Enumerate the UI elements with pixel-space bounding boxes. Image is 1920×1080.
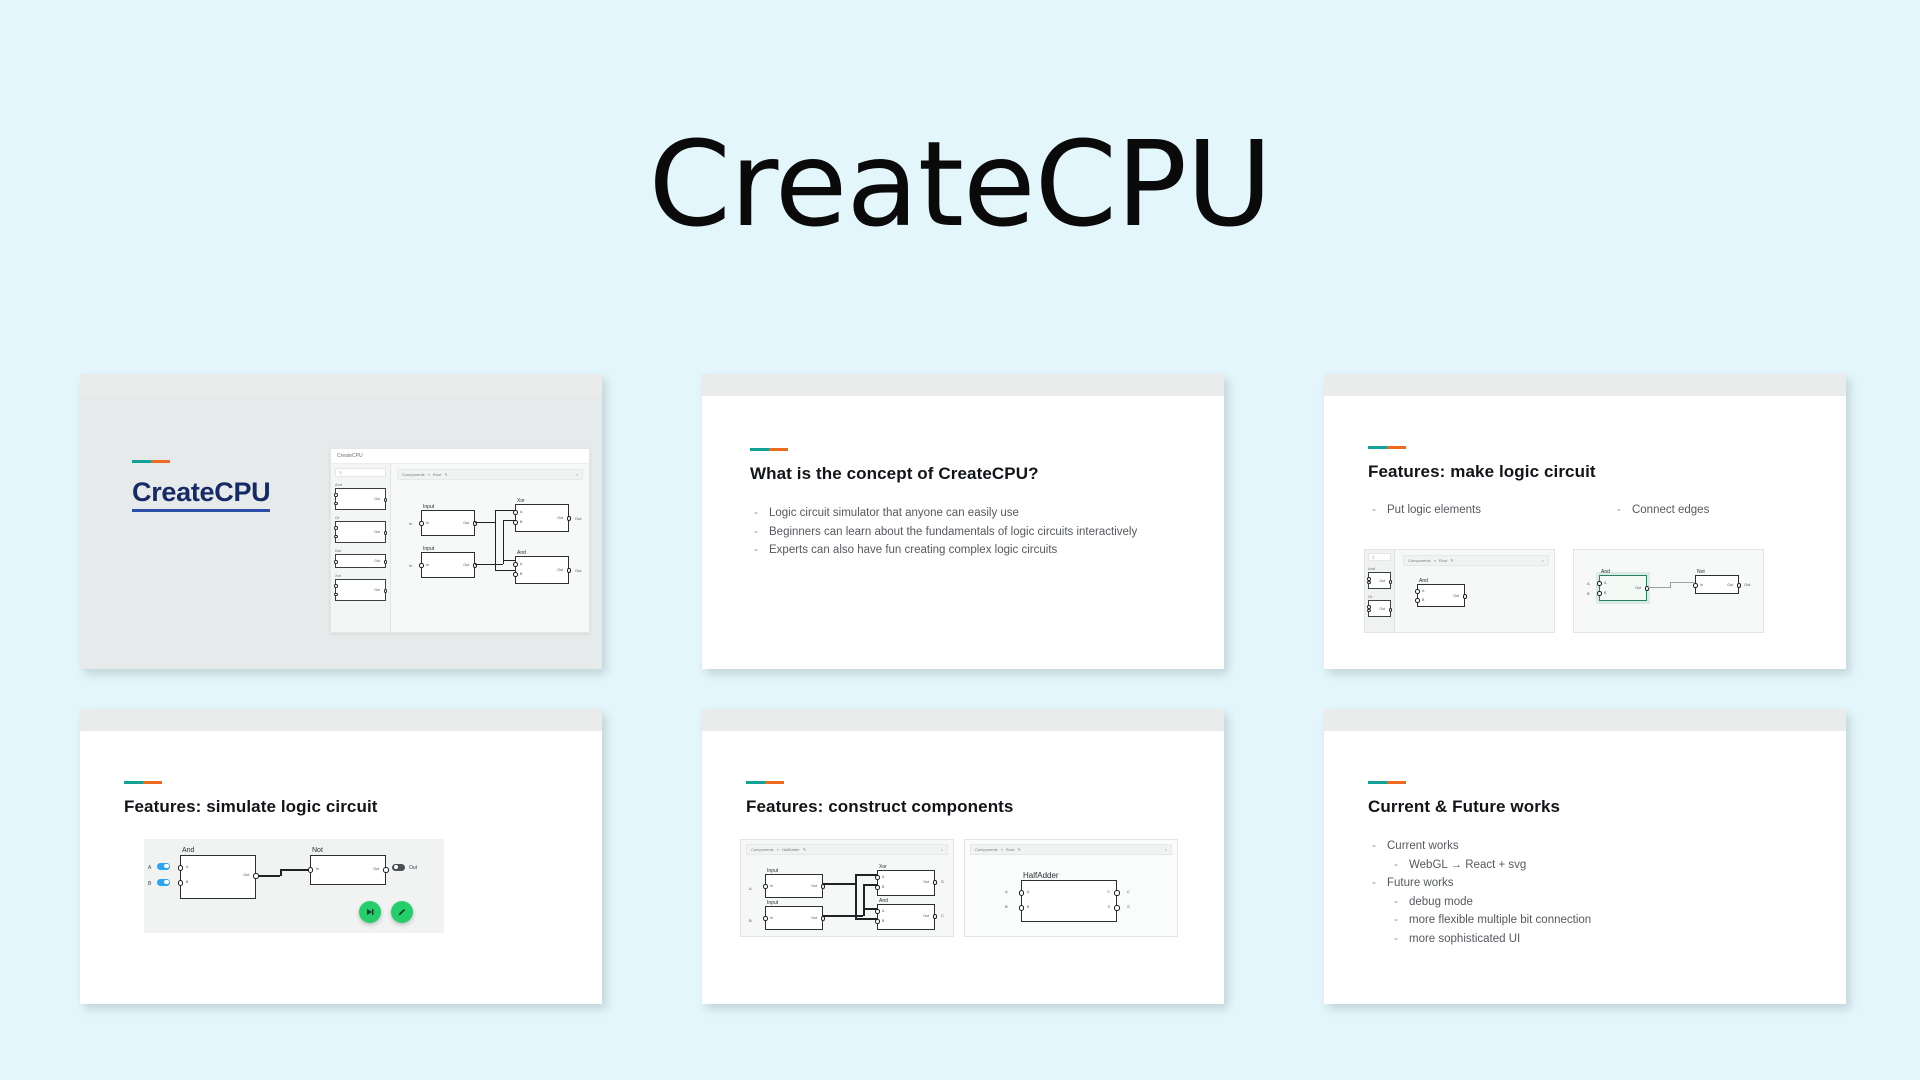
accent-bar: [124, 781, 162, 784]
slide-body: Current & Future works Current works Web…: [1324, 731, 1846, 1004]
pin-b: [875, 885, 880, 890]
panel-halfadder-internals[interactable]: Components » HalfAdder ✎ × A Input In Ou…: [740, 839, 954, 937]
external-input-b: B: [1005, 904, 1008, 909]
node-input-1[interactable]: Input In Out: [765, 874, 823, 898]
slide-thumbnail-concept[interactable]: What is the concept of CreateCPU? Logic …: [702, 374, 1224, 669]
wire: [280, 869, 310, 871]
wire: [475, 522, 495, 523]
pin-out: [821, 884, 826, 889]
accent-orange: [1387, 781, 1406, 784]
list-item: Logic circuit simulator that anyone can …: [750, 506, 1150, 522]
list-item: Experts can also have fun creating compl…: [750, 543, 1150, 559]
list-item: Current works: [1368, 839, 1768, 855]
accent-orange: [143, 781, 162, 784]
port-label-a: A: [520, 562, 522, 566]
node-label: And: [517, 550, 526, 556]
node-label: Not: [1697, 569, 1705, 575]
presentation-overview: CreateCPU CreateCPU CreateCPU: [0, 0, 1920, 1080]
port-label-in: In: [1700, 583, 1703, 587]
port-label-b: B: [520, 520, 522, 524]
wire: [823, 915, 863, 917]
node-xor[interactable]: Xor A B Out: [515, 504, 569, 532]
node-label: And: [879, 898, 888, 904]
breadcrumb-current[interactable]: Root: [1439, 558, 1447, 563]
wire: [258, 875, 280, 877]
port-label-out: Out: [923, 914, 929, 918]
node-label: Input: [423, 546, 434, 552]
accent-teal: [750, 448, 769, 451]
node-xor[interactable]: Xor A B Out: [877, 870, 935, 896]
node-input-1[interactable]: Input In Out: [421, 510, 475, 536]
edit-button[interactable]: [391, 901, 413, 923]
port-label-in: In: [770, 916, 773, 920]
breadcrumb-current[interactable]: HalfAdder: [782, 847, 800, 852]
port-label-out: Out: [374, 497, 380, 501]
port-label-s: S: [1108, 905, 1110, 909]
app-window-title: CreateCPU: [331, 449, 589, 464]
port-label-b: B: [520, 572, 522, 576]
pin-a: [1367, 577, 1371, 581]
pin-out: [567, 516, 572, 521]
pin-in: [308, 867, 314, 873]
port-label-out: Out: [1727, 583, 1733, 587]
wire: [495, 570, 515, 571]
port-label-out: Out: [1453, 594, 1459, 598]
panel-put-elements[interactable]: ⚲ And Out Or: [1364, 549, 1555, 633]
pin-b: [1597, 591, 1602, 596]
palette-item-label: Not: [335, 548, 386, 553]
port-label-out: Out: [1379, 579, 1385, 583]
simulation-canvas[interactable]: A B And A B Out: [144, 839, 444, 933]
port-label-out: Out: [1635, 586, 1641, 590]
wire: [503, 520, 504, 564]
external-label-out: Out: [1744, 582, 1750, 587]
external-label-in: In: [409, 563, 412, 568]
pin-a: [1367, 605, 1371, 609]
column-labels: Put logic elements Connect edges: [1368, 503, 1709, 522]
node-and[interactable]: And A B Out: [180, 855, 256, 899]
input-label-a: A: [148, 865, 151, 871]
palette-item-not[interactable]: Not Out: [335, 548, 386, 568]
port-label-in: In: [426, 563, 429, 567]
search-input[interactable]: ⚲: [1368, 553, 1391, 561]
palette-item-xor[interactable]: Xor Out: [335, 573, 386, 601]
pin-out: [1463, 594, 1468, 599]
pin-a: [334, 526, 338, 530]
list-item: Connect edges: [1613, 503, 1709, 519]
breadcrumb[interactable]: Components » Root ✎ ×: [397, 469, 583, 480]
accent-bar: [746, 781, 784, 784]
step-forward-icon: [365, 907, 375, 917]
pin-out: [1389, 608, 1393, 612]
slide-title: Features: simulate logic circuit: [124, 797, 378, 817]
port-label-b: B: [1604, 591, 1606, 595]
wire: [863, 884, 877, 886]
breadcrumb[interactable]: Components » Root ✎ ×: [970, 844, 1172, 855]
palette-item-or[interactable]: Or Out: [1368, 594, 1391, 617]
pin-out: [383, 867, 389, 873]
slide-topbar: [702, 374, 1224, 396]
pin-b: [334, 535, 338, 539]
node-label: Input: [423, 504, 434, 510]
gate-box: Out: [335, 521, 386, 543]
slide-title: Current & Future works: [1368, 797, 1768, 817]
wire: [503, 520, 515, 521]
slide-topbar: [702, 709, 1224, 731]
slide-body: What is the concept of CreateCPU? Logic …: [702, 396, 1224, 669]
pin-b: [1415, 598, 1420, 603]
wire: [855, 874, 877, 876]
pin-out: [1737, 583, 1742, 588]
pin-in: [419, 521, 424, 526]
wire: [855, 874, 857, 918]
external-output-s: S: [1127, 904, 1130, 909]
pin-out: [567, 568, 572, 573]
node-and-dragged[interactable]: And A B Out: [1417, 584, 1465, 607]
accent-orange: [1387, 446, 1406, 449]
pin-b: [513, 572, 518, 577]
pin-in: [763, 916, 768, 921]
node-and[interactable]: And A B Out: [515, 556, 569, 584]
bullet-list: Logic circuit simulator that anyone can …: [750, 506, 1150, 559]
accent-teal: [1368, 781, 1387, 784]
accent-bar: [750, 448, 788, 451]
accent-bar: [132, 460, 170, 463]
pencil-icon[interactable]: ✎: [1450, 558, 1453, 563]
port-label-out: Out: [374, 588, 380, 592]
pin-a: [875, 909, 880, 914]
external-output-s: S: [941, 879, 944, 884]
slide-thumbnail-simulate[interactable]: Features: simulate logic circuit A B And…: [80, 709, 602, 1004]
port-label-out: Out: [373, 867, 379, 871]
slide-title: What is the concept of CreateCPU?: [750, 464, 1150, 484]
chevron-right-icon: »: [428, 472, 430, 477]
pin-out: [384, 498, 388, 502]
list-item: more sophisticated UI: [1368, 932, 1768, 948]
wire: [1670, 582, 1694, 583]
input-label-b: B: [148, 881, 151, 887]
port-label-out: Out: [811, 884, 817, 888]
close-icon[interactable]: ×: [576, 472, 578, 477]
breadcrumb-root[interactable]: Components: [975, 847, 998, 852]
external-input-a: A: [749, 886, 752, 891]
port-label-in: In: [426, 521, 429, 525]
slide-title: Features: construct components: [746, 797, 1014, 817]
pin-b: [875, 919, 880, 924]
pin-b: [334, 502, 338, 506]
node-input-2[interactable]: Input In Out: [421, 552, 475, 578]
external-label-out: Out: [575, 516, 581, 521]
list-item: Beginners can learn about the fundamenta…: [750, 525, 1150, 541]
port-label-a: A: [882, 909, 884, 913]
wire: [503, 560, 515, 561]
pencil-icon[interactable]: ✎: [803, 847, 806, 852]
port-label-a: A: [1027, 890, 1029, 894]
pin-b: [334, 593, 338, 597]
toggle-input-b[interactable]: [157, 879, 170, 886]
close-icon[interactable]: ×: [1165, 847, 1167, 852]
port-label-a: A: [1604, 581, 1606, 585]
port-label-out: Out: [374, 530, 380, 534]
node-label: Xor: [879, 864, 887, 870]
node-and[interactable]: And A B Out: [877, 904, 935, 930]
wire: [495, 510, 496, 570]
palette-item-label: Or: [335, 515, 386, 520]
wire: [863, 884, 865, 916]
slide-title: Features: make logic circuit: [1368, 462, 1709, 482]
pencil-icon[interactable]: ✎: [444, 472, 447, 477]
port-label-out: Out: [374, 559, 380, 563]
port-label-b: B: [882, 885, 884, 889]
pin-a: [334, 584, 338, 588]
node-label: HalfAdder: [1023, 871, 1059, 880]
bullet-list: Current works WebGL → React + svg Future…: [1368, 839, 1768, 947]
port-label-b: B: [186, 880, 188, 884]
wire: [855, 918, 877, 920]
port-label-a: A: [520, 510, 522, 514]
node-label: Input: [767, 900, 778, 906]
chevron-right-icon: »: [1001, 847, 1003, 852]
slide-body: Features: simulate logic circuit A B And…: [80, 731, 602, 1004]
slide-thumbnail-make[interactable]: Features: make logic circuit Put logic e…: [1324, 374, 1846, 669]
title-slide-canvas: CreateCPU CreateCPU ⚲ And: [80, 396, 602, 669]
gate-box: Out: [335, 579, 386, 601]
node-and-selected[interactable]: And A B Out: [1599, 575, 1647, 601]
pin-in: [419, 563, 424, 568]
palette-item-and[interactable]: And Out: [1368, 566, 1391, 589]
port-label-b: B: [1422, 598, 1424, 602]
palette-item-or[interactable]: Or Out: [335, 515, 386, 543]
port-label-c: C: [1107, 890, 1110, 894]
slide-thumbnail-construct[interactable]: Features: construct components Component…: [702, 709, 1224, 1004]
port-label-out: Out: [557, 568, 563, 572]
close-icon[interactable]: ×: [1542, 558, 1544, 563]
node-label: And: [1601, 569, 1610, 575]
pin-c: [1114, 890, 1120, 896]
circuit-canvas[interactable]: Components » Root ✎ × Input: [391, 464, 589, 633]
port-label-in: In: [770, 884, 773, 888]
pin-a: [178, 865, 184, 871]
breadcrumb-root[interactable]: Components: [1408, 558, 1431, 563]
accent-orange: [151, 460, 170, 463]
pin-a: [513, 562, 518, 567]
node-label: Input: [767, 868, 778, 874]
pin-in: [763, 884, 768, 889]
pin-a: [875, 875, 880, 880]
pin-a: [1019, 890, 1025, 896]
list-item: WebGL → React + svg: [1368, 858, 1768, 874]
breadcrumb[interactable]: Components » Root ✎ ×: [1403, 555, 1549, 566]
close-icon[interactable]: ×: [941, 847, 943, 852]
external-input-b: B: [749, 918, 752, 923]
page-title: CreateCPU: [0, 120, 1920, 250]
toggle-output[interactable]: [392, 864, 405, 871]
slide-topbar: [1324, 374, 1846, 396]
external-output-c: C: [1127, 889, 1130, 894]
breadcrumb[interactable]: Components » HalfAdder ✎ ×: [746, 844, 948, 855]
external-label-b: B: [1587, 591, 1590, 596]
pin-out: [933, 914, 938, 919]
pencil-icon: [397, 907, 407, 917]
component-palette[interactable]: ⚲ And Out: [331, 464, 391, 633]
pencil-icon[interactable]: ✎: [1017, 847, 1020, 852]
panel-halfadder-component[interactable]: Components » Root ✎ × HalfAdder A B C: [964, 839, 1178, 937]
external-input-a: A: [1005, 889, 1008, 894]
port-label-a: A: [186, 865, 188, 869]
node-not[interactable]: Not In Out: [310, 855, 386, 885]
chevron-right-icon: »: [777, 847, 779, 852]
pin-a: [334, 493, 338, 497]
slide-body: Features: make logic circuit Put logic e…: [1324, 396, 1846, 669]
gate-box: Out: [1368, 572, 1391, 589]
palette-item-label: Or: [1368, 594, 1391, 599]
slide-grid: CreateCPU CreateCPU ⚲ And: [80, 374, 1848, 1004]
external-label-out: Out: [575, 568, 581, 573]
gate-box: Out: [1368, 600, 1391, 617]
port-label-out: Out: [1379, 607, 1385, 611]
breadcrumb-root[interactable]: Components: [751, 847, 774, 852]
pin-b: [1367, 609, 1371, 613]
node-not[interactable]: Not In Out: [1695, 575, 1739, 594]
bullet-list-right: Connect edges: [1613, 503, 1709, 522]
node-input-2[interactable]: Input In Out: [765, 906, 823, 930]
port-label-a: A: [882, 875, 884, 879]
pin-out: [384, 531, 388, 535]
pin-a: [1597, 581, 1602, 586]
slide-topbar: [80, 709, 602, 731]
slide-body: CreateCPU CreateCPU ⚲ And: [80, 396, 602, 669]
port-label-out: Out: [557, 516, 563, 520]
output-label: Out: [409, 865, 417, 871]
step-forward-button[interactable]: [359, 901, 381, 923]
wire: [475, 564, 503, 565]
port-label-out: Out: [463, 521, 469, 525]
list-item: more flexible multiple bit connection: [1368, 913, 1768, 929]
wire: [863, 908, 877, 910]
slide-thumbnail-works[interactable]: Current & Future works Current works Web…: [1324, 709, 1846, 1004]
app-main: ⚲ And Out: [331, 464, 589, 633]
palette-item-label: Xor: [335, 573, 386, 578]
slide-body: Features: construct components Component…: [702, 731, 1224, 1004]
node-halfadder[interactable]: HalfAdder A B C S: [1021, 880, 1117, 922]
search-input[interactable]: ⚲: [335, 468, 386, 477]
accent-teal: [1368, 446, 1387, 449]
breadcrumb-current[interactable]: Root: [433, 472, 441, 477]
pin-out: [384, 560, 388, 564]
panel-connect-edges[interactable]: And A B Out A B Not: [1573, 549, 1764, 633]
pin-in: [334, 560, 338, 564]
external-label-in: In: [409, 521, 412, 526]
slide-thumbnail-title[interactable]: CreateCPU CreateCPU ⚲ And: [80, 374, 602, 669]
pin-b: [178, 880, 184, 886]
wire: [1648, 587, 1670, 588]
list-item: Put logic elements: [1368, 503, 1481, 519]
app-screenshot: CreateCPU ⚲ And O: [330, 448, 590, 633]
wire: [823, 883, 855, 885]
breadcrumb-root[interactable]: Components: [402, 472, 425, 477]
pin-in: [1693, 583, 1698, 588]
pin-b: [1367, 581, 1371, 585]
accent-orange: [769, 448, 788, 451]
external-output-c: C: [941, 913, 944, 918]
pin-out: [384, 589, 388, 593]
toggle-input-a[interactable]: [157, 863, 170, 870]
port-label-a: A: [1422, 589, 1424, 593]
port-label-in: In: [316, 867, 319, 871]
logo-text: CreateCPU: [132, 477, 270, 512]
node-label: And: [182, 847, 194, 854]
pin-a: [1415, 589, 1420, 594]
accent-teal: [746, 781, 765, 784]
port-label-out: Out: [463, 563, 469, 567]
list-item: debug mode: [1368, 895, 1768, 911]
palette-item-and[interactable]: And Out: [335, 482, 386, 510]
port-label-out: Out: [923, 880, 929, 884]
port-label-out: Out: [243, 873, 249, 877]
list-item: Future works: [1368, 876, 1768, 892]
palette-item-label: And: [335, 482, 386, 487]
accent-orange: [765, 781, 784, 784]
breadcrumb-current[interactable]: Root: [1006, 847, 1014, 852]
accent-bar: [1368, 781, 1406, 784]
accent-bar: [1368, 446, 1406, 449]
bullet-list-left: Put logic elements: [1368, 503, 1481, 522]
port-label-b: B: [882, 919, 884, 923]
pin-out: [933, 880, 938, 885]
gate-box: Out: [335, 554, 386, 568]
title-block: CreateCPU: [132, 460, 270, 512]
pin-out: [1389, 580, 1393, 584]
accent-teal: [124, 781, 143, 784]
port-label-b: B: [1027, 905, 1029, 909]
node-label: Xor: [517, 498, 525, 504]
external-label-a: A: [1587, 581, 1590, 586]
pin-s: [1114, 905, 1120, 911]
node-label: And: [1419, 578, 1428, 584]
port-label-out: Out: [811, 916, 817, 920]
pin-b: [1019, 905, 1025, 911]
slide-topbar: [80, 374, 602, 396]
pin-out: [821, 916, 826, 921]
palette-item-label: And: [1368, 566, 1391, 571]
chevron-right-icon: »: [1434, 558, 1436, 563]
accent-teal: [132, 460, 151, 463]
gate-box: Out: [335, 488, 386, 510]
node-label: Not: [312, 847, 323, 854]
slide-topbar: [1324, 709, 1846, 731]
wire: [495, 510, 515, 511]
